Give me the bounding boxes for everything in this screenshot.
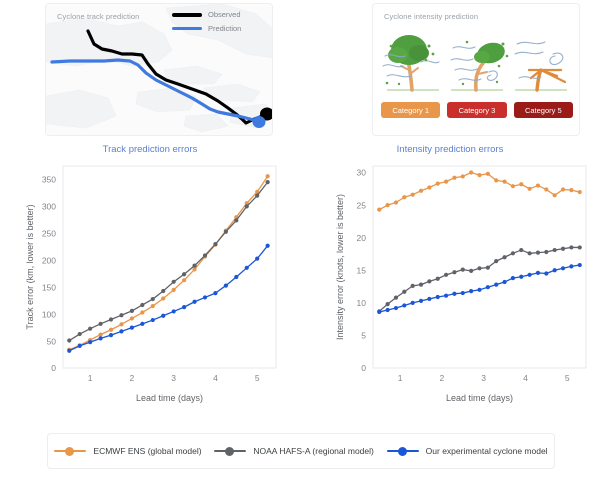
category-1-chip[interactable]: Category 1 bbox=[381, 102, 440, 118]
wind-damage-illustration bbox=[381, 26, 573, 98]
legend-item-ecmwf[interactable]: ECMWF ENS (global model) bbox=[54, 446, 201, 456]
svg-text:2: 2 bbox=[440, 373, 445, 383]
chart-legend: ECMWF ENS (global model) NOAA HAFS-A (re… bbox=[47, 433, 555, 469]
ecmwf-label: ECMWF ENS (global model) bbox=[93, 446, 201, 456]
svg-text:5: 5 bbox=[361, 331, 366, 341]
svg-text:350: 350 bbox=[42, 175, 56, 185]
noaa-marker bbox=[214, 447, 246, 456]
prediction-label: Prediction bbox=[208, 24, 241, 33]
svg-text:250: 250 bbox=[42, 229, 56, 239]
cyclone-track-panel: Cyclone track prediction Observed Predic… bbox=[45, 3, 273, 136]
svg-text:15: 15 bbox=[357, 265, 367, 275]
legend-item-noaa[interactable]: NOAA HAFS-A (regional model) bbox=[214, 446, 373, 456]
svg-text:3: 3 bbox=[171, 373, 176, 383]
svg-text:Intensity error (knots, lower: Intensity error (knots, lower is better) bbox=[335, 194, 345, 340]
noaa-label: NOAA HAFS-A (regional model) bbox=[253, 446, 373, 456]
svg-text:0: 0 bbox=[51, 363, 56, 373]
legend-item-ours[interactable]: Our experimental cyclone model bbox=[387, 446, 548, 456]
svg-text:5: 5 bbox=[565, 373, 570, 383]
svg-text:100: 100 bbox=[42, 309, 56, 319]
track-error-chart: Track prediction errors 0501001502002503… bbox=[0, 140, 300, 420]
ecmwf-marker bbox=[54, 447, 86, 456]
map-legend-item-prediction: Prediction bbox=[172, 23, 264, 34]
svg-text:Lead time (days): Lead time (days) bbox=[136, 393, 203, 403]
category-5-chip[interactable]: Category 5 bbox=[514, 102, 573, 118]
top-panels: Cyclone track prediction Observed Predic… bbox=[0, 0, 600, 140]
tree-cat1 bbox=[383, 35, 439, 90]
svg-text:10: 10 bbox=[357, 298, 367, 308]
svg-text:20: 20 bbox=[357, 233, 367, 243]
map-legend: Observed Prediction bbox=[172, 9, 264, 37]
svg-text:0: 0 bbox=[361, 363, 366, 373]
svg-text:4: 4 bbox=[213, 373, 218, 383]
intensity-panel-title: Cyclone intensity prediction bbox=[384, 12, 478, 21]
svg-text:200: 200 bbox=[42, 255, 56, 265]
svg-text:4: 4 bbox=[523, 373, 528, 383]
ours-label: Our experimental cyclone model bbox=[426, 446, 548, 456]
observed-line-swatch bbox=[172, 13, 202, 17]
cyclone-intensity-panel: Cyclone intensity prediction bbox=[372, 3, 580, 136]
svg-text:Track error (km, lower is bett: Track error (km, lower is better) bbox=[25, 204, 35, 329]
svg-text:5: 5 bbox=[255, 373, 260, 383]
svg-text:1: 1 bbox=[398, 373, 403, 383]
observed-label: Observed bbox=[208, 10, 241, 19]
map-legend-item-observed: Observed bbox=[172, 9, 264, 20]
tree-cat5 bbox=[515, 42, 565, 90]
prediction-line-swatch bbox=[172, 27, 202, 30]
tree-cat3 bbox=[451, 40, 508, 90]
track-chart-canvas: 05010015020025030035012345Lead time (day… bbox=[0, 140, 300, 420]
intensity-error-chart: Intensity prediction errors 051015202530… bbox=[300, 140, 600, 420]
intensity-chart-canvas: 05101520253012345Lead time (days)Intensi… bbox=[300, 140, 600, 420]
svg-text:30: 30 bbox=[357, 168, 367, 178]
ours-marker bbox=[387, 447, 419, 456]
svg-text:50: 50 bbox=[47, 336, 57, 346]
category-chip-row: Category 1 Category 3 Category 5 bbox=[381, 102, 573, 118]
map-panel-title: Cyclone track prediction bbox=[57, 12, 139, 21]
svg-text:300: 300 bbox=[42, 202, 56, 212]
svg-text:25: 25 bbox=[357, 200, 367, 210]
svg-text:Lead time (days): Lead time (days) bbox=[446, 393, 513, 403]
svg-text:1: 1 bbox=[88, 373, 93, 383]
svg-text:2: 2 bbox=[130, 373, 135, 383]
svg-text:150: 150 bbox=[42, 282, 56, 292]
svg-text:3: 3 bbox=[481, 373, 486, 383]
category-3-chip[interactable]: Category 3 bbox=[447, 102, 506, 118]
